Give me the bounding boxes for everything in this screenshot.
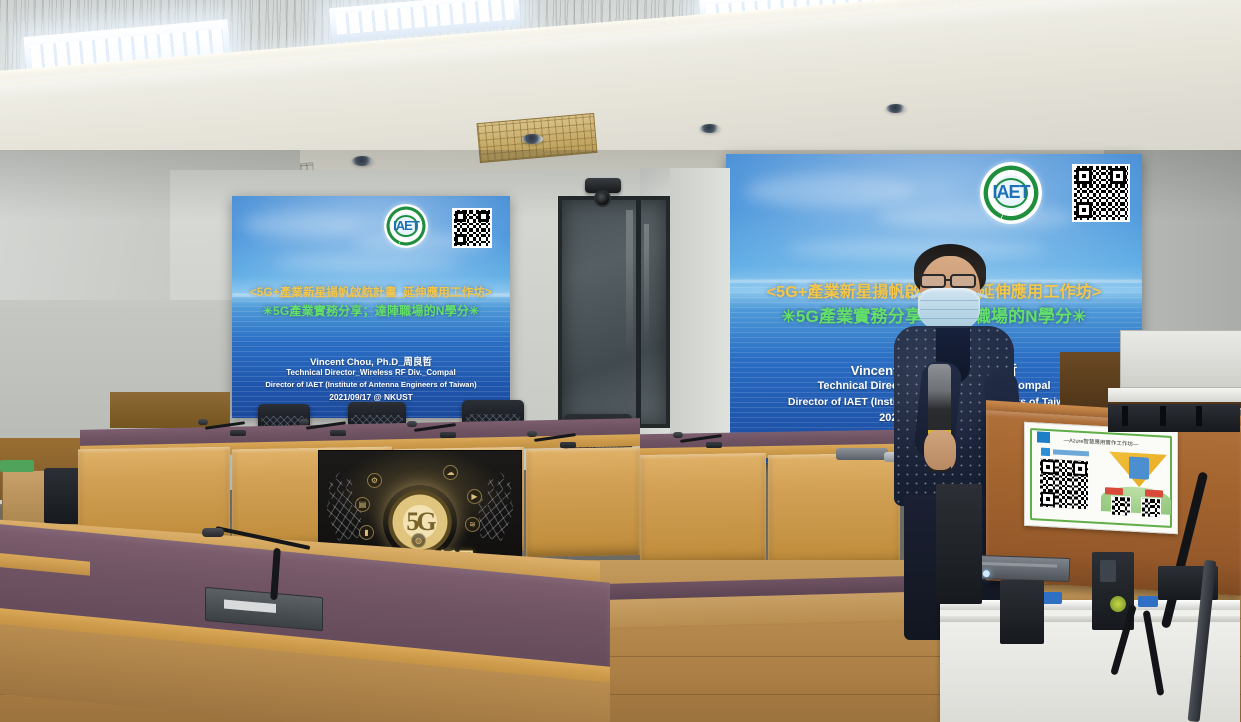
poster-brand-icon — [1037, 431, 1050, 443]
iaet-logo: IAET — [384, 204, 428, 248]
hand-grip — [924, 430, 956, 470]
av-cabinet-rail — [940, 616, 1240, 622]
av-cabinet-top — [940, 600, 1240, 610]
wifi-icon: ≋ — [465, 517, 480, 532]
glasses-right-lens — [950, 274, 976, 288]
projection-screen-left: IAET <5G+產業新星揚帆啟航計畫_延伸應用工作坊> ✳5G產業實務分享；達… — [232, 196, 510, 418]
equipment-case — [44, 468, 80, 524]
table-microphone-head — [527, 431, 537, 437]
equipment-slot — [1160, 406, 1166, 426]
poster-qr-tertiary — [1141, 497, 1161, 518]
wall-mounted-panel — [1120, 330, 1241, 388]
table-microphone-base — [440, 432, 456, 438]
poster-illustration-figure — [1129, 457, 1149, 480]
floor-equipment — [1000, 580, 1044, 644]
back-counter — [110, 392, 230, 428]
table-microphone-head — [407, 421, 417, 427]
table-microphone-head — [198, 419, 208, 425]
slide-title-line2: ✳5G產業實務分享；達陣職場的N學分✳ — [232, 302, 510, 319]
cloud-icon: ☁ — [443, 465, 458, 480]
table-microphone-base — [330, 430, 346, 436]
head-table-panel — [640, 453, 766, 565]
green-plug — [1110, 596, 1126, 612]
blue-connector — [1138, 596, 1158, 607]
ceiling-downlight — [522, 134, 543, 144]
table-microphone-head — [673, 432, 683, 438]
camera-lens-icon — [594, 190, 611, 207]
status-led — [983, 570, 990, 577]
glasses-bridge — [945, 279, 951, 281]
panel-shelf — [1108, 388, 1241, 402]
podium-side-equipment — [936, 484, 982, 604]
table-microphone-base — [560, 442, 576, 448]
slide-speaker-name: Vincent Chou, Ph.D_周良哲 — [232, 354, 510, 368]
head-table-panel — [768, 453, 900, 567]
chip-icon: ▤ — [355, 497, 370, 512]
scan-icon — [1041, 448, 1050, 457]
interior-window — [558, 196, 670, 428]
database-icon: ▮ — [359, 525, 374, 540]
slide-speaker-org: Director of IAET (Institute of Antenna E… — [232, 380, 510, 389]
iaet-logo: IAET — [980, 162, 1042, 224]
front-desk-microphone-head — [202, 528, 224, 537]
poster-badge — [1105, 487, 1123, 495]
podium-poster: —Azure智慧應用實作工作坊— — [1024, 422, 1178, 535]
gear-icon: ⚙ — [367, 473, 382, 488]
iaet-logo-text: IAET — [994, 178, 1029, 208]
slide-title-line1: <5G+產業新星揚帆啟航計畫_延伸應用工作坊> — [232, 284, 510, 300]
glasses-left-lens — [920, 274, 946, 288]
green-label — [0, 460, 34, 472]
poster-badge — [1145, 489, 1163, 497]
poster-qr-main — [1039, 458, 1089, 511]
slide-qr-code — [452, 208, 492, 248]
table-microphone-head — [299, 419, 309, 425]
wall-between-screens — [670, 168, 730, 468]
head-table-panel — [526, 447, 640, 557]
conference-room-photo: IAET <5G+產業新星揚帆啟航計畫_延伸應用工作坊> ✳5G產業實務分享；達… — [0, 0, 1241, 722]
table-microphone-base — [230, 430, 246, 436]
equipment-slot — [1122, 406, 1128, 426]
ceiling-downlight — [886, 104, 906, 113]
poster-qr-secondary — [1111, 496, 1131, 517]
equipment-slot — [1196, 406, 1202, 426]
slide-speaker-role: Technical Director_Wireless RF Div._Comp… — [232, 368, 510, 377]
ceiling-downlight — [700, 124, 720, 133]
slide-qr-code — [1072, 164, 1130, 222]
iaet-logo-text: IAET — [394, 215, 419, 236]
table-microphone-base — [706, 442, 722, 448]
desk-items — [836, 448, 888, 460]
video-icon: ▶ — [467, 489, 482, 504]
